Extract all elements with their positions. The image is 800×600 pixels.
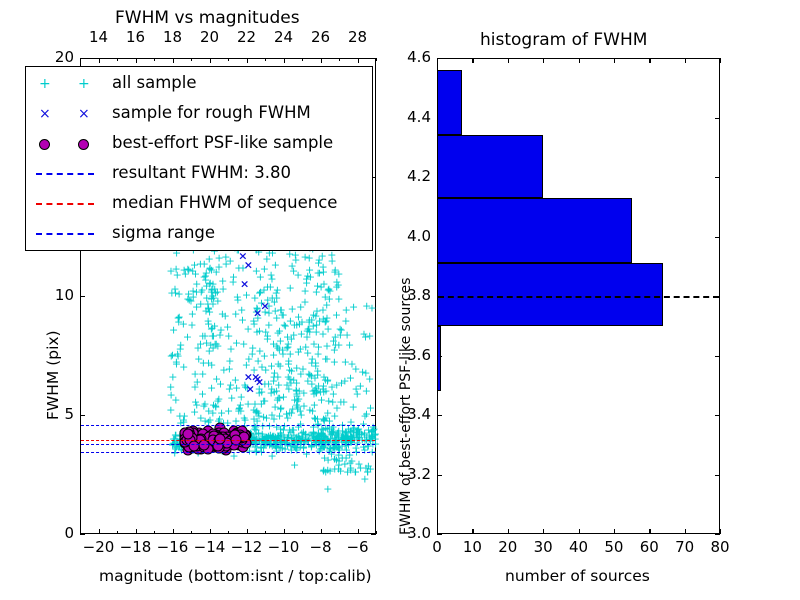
left-top-tickmark-3 xyxy=(210,58,211,63)
left-top-tickmark-6 xyxy=(321,58,322,63)
left-bottom-tickmark-7 xyxy=(358,529,359,534)
right-y-tick-8: 4.6 xyxy=(393,48,431,66)
right-y-tickmark-1 xyxy=(437,475,442,476)
right-xlabel: number of sources xyxy=(505,567,650,585)
dash-dot-line-icon xyxy=(36,233,94,235)
left-top-tick-6: 26 xyxy=(304,28,338,46)
circle-icon xyxy=(78,139,89,150)
legend-row-0: ++all sample xyxy=(26,69,372,99)
legend-box: ++all sample××sample for rough FWHMbest-… xyxy=(25,66,373,251)
right-y-tick-7: 4.4 xyxy=(393,108,431,126)
right-y-right-tickmark-7 xyxy=(715,118,720,119)
left-top-tick-3: 20 xyxy=(193,28,227,46)
left-bottom-minor-tick xyxy=(265,531,266,534)
right-panel-title: histogram of FWHM xyxy=(480,30,647,50)
left-top-tick-4: 22 xyxy=(230,28,264,46)
left-top-tick-7: 28 xyxy=(341,28,375,46)
right-x-top-tickmark-2 xyxy=(508,58,509,63)
right-x-top-tickmark-4 xyxy=(579,58,580,63)
histogram-resultant-fwhm-line xyxy=(438,296,719,298)
right-x-tick-4: 40 xyxy=(563,538,595,556)
right-y-tickmark-8 xyxy=(437,58,442,59)
right-x-top-tickmark-7 xyxy=(685,58,686,63)
left-top-tick-0: 14 xyxy=(82,28,116,46)
left-bottom-tickmark-6 xyxy=(321,529,322,534)
sigma-range-upper-line xyxy=(81,425,375,426)
dashed-line-icon xyxy=(36,203,94,205)
left-top-minor-tick xyxy=(339,58,340,61)
right-y-right-tickmark-0 xyxy=(715,534,720,535)
legend-row-3: resultant FWHM: 3.80 xyxy=(26,159,372,189)
left-top-minor-tick xyxy=(154,58,155,61)
left-top-tick-1: 16 xyxy=(119,28,153,46)
left-top-minor-tick xyxy=(376,58,377,61)
left-bottom-tick-5: −10 xyxy=(267,538,301,556)
histogram-bar-3 xyxy=(437,135,543,197)
plus-icon: + xyxy=(78,76,90,92)
right-x-top-tickmark-3 xyxy=(543,58,544,63)
histogram-bar-1 xyxy=(437,263,663,325)
right-x-tickmark-4 xyxy=(579,529,580,534)
left-panel-title: FWHM vs magnitudes xyxy=(115,8,300,28)
left-bottom-tickmark-3 xyxy=(210,529,211,534)
right-x-top-tickmark-8 xyxy=(720,58,721,63)
right-y-right-tickmark-1 xyxy=(715,475,720,476)
left-y-tickmark-4 xyxy=(80,58,85,59)
right-x-top-tickmark-6 xyxy=(649,58,650,63)
left-top-minor-tick xyxy=(117,58,118,61)
right-y-tickmark-0 xyxy=(437,534,442,535)
resultant-fwhm-line xyxy=(81,444,375,445)
left-top-minor-tick xyxy=(191,58,192,61)
histogram-bar-4 xyxy=(437,70,462,135)
left-top-tickmark-7 xyxy=(358,58,359,63)
legend-label-2: best-effort PSF-like sample xyxy=(112,133,333,152)
median-fwhm-line xyxy=(81,440,375,441)
psf-sample-point xyxy=(182,429,193,440)
left-y-right-tickmark-2 xyxy=(371,296,376,297)
left-top-tickmark-5 xyxy=(284,58,285,63)
left-y-tickmark-0 xyxy=(80,534,85,535)
left-top-minor-tick xyxy=(228,58,229,61)
legend-symbol-3 xyxy=(26,159,104,189)
legend-label-4: median FHWM of sequence xyxy=(112,193,337,212)
left-bottom-tickmark-5 xyxy=(284,529,285,534)
right-y-right-tickmark-2 xyxy=(715,415,720,416)
right-x-tickmark-2 xyxy=(508,529,509,534)
sigma-range-lower-line xyxy=(81,452,375,453)
left-bottom-minor-tick xyxy=(339,531,340,534)
legend-label-0: all sample xyxy=(112,73,197,92)
left-bottom-tick-4: −12 xyxy=(230,538,264,556)
right-x-tick-2: 20 xyxy=(492,538,524,556)
left-y-tick-2: 10 xyxy=(46,286,74,304)
legend-symbol-1: ×× xyxy=(26,99,104,129)
right-x-tick-6: 60 xyxy=(633,538,665,556)
right-y-right-tickmark-3 xyxy=(715,356,720,357)
right-x-tick-1: 10 xyxy=(456,538,488,556)
left-y-right-tickmark-0 xyxy=(371,534,376,535)
right-y-tickmark-2 xyxy=(437,415,442,416)
right-x-top-tickmark-1 xyxy=(472,58,473,63)
left-top-tick-2: 18 xyxy=(156,28,190,46)
legend-symbol-2 xyxy=(26,129,104,159)
legend-symbol-0: ++ xyxy=(26,69,104,99)
right-ylabel: FWHM of best-effort PSF-like sources xyxy=(398,278,414,535)
right-y-right-tickmark-5 xyxy=(715,237,720,238)
left-bottom-tick-6: −8 xyxy=(304,538,338,556)
left-bottom-minor-tick xyxy=(302,531,303,534)
left-y-tick-4: 20 xyxy=(46,48,74,66)
right-x-tick-7: 70 xyxy=(669,538,701,556)
right-x-tickmark-5 xyxy=(614,529,615,534)
right-y-tick-5: 4.0 xyxy=(393,227,431,245)
psf-sample-point xyxy=(188,440,199,451)
histogram-bar-2 xyxy=(437,198,632,263)
right-x-tickmark-3 xyxy=(543,529,544,534)
left-bottom-tickmark-4 xyxy=(247,529,248,534)
left-y-right-tickmark-4 xyxy=(371,58,376,59)
left-top-minor-tick xyxy=(302,58,303,61)
left-ylabel: FWHM (pix) xyxy=(44,330,62,420)
right-y-right-tickmark-6 xyxy=(715,177,720,178)
right-x-tick-8: 80 xyxy=(704,538,736,556)
left-top-minor-tick xyxy=(265,58,266,61)
left-y-tickmark-2 xyxy=(80,296,85,297)
left-bottom-tickmark-0 xyxy=(99,529,100,534)
left-bottom-tickmark-2 xyxy=(173,529,174,534)
left-bottom-minor-tick xyxy=(228,531,229,534)
right-x-tickmark-7 xyxy=(685,529,686,534)
legend-label-1: sample for rough FWHM xyxy=(112,103,311,122)
right-x-tickmark-8 xyxy=(720,529,721,534)
cross-icon: × xyxy=(39,106,51,122)
cross-icon: × xyxy=(78,106,90,122)
legend-row-1: ××sample for rough FWHM xyxy=(26,99,372,129)
right-y-tick-6: 4.2 xyxy=(393,167,431,185)
left-y-tick-0: 0 xyxy=(46,524,74,542)
right-y-right-tickmark-8 xyxy=(715,58,720,59)
left-bottom-minor-tick xyxy=(376,531,377,534)
histogram-bar-0 xyxy=(437,326,441,391)
left-bottom-tick-2: −16 xyxy=(156,538,190,556)
legend-label-5: sigma range xyxy=(112,223,215,242)
legend-symbol-5 xyxy=(26,219,104,249)
left-bottom-minor-tick xyxy=(154,531,155,534)
left-bottom-minor-tick xyxy=(191,531,192,534)
left-top-tickmark-2 xyxy=(173,58,174,63)
left-bottom-tickmark-1 xyxy=(136,529,137,534)
plus-icon: + xyxy=(39,76,51,92)
left-xlabel: magnitude (bottom:isnt / top:calib) xyxy=(99,567,372,585)
figure-canvas: FWHM vs magnitudes 1416182022242628 −20−… xyxy=(0,0,800,600)
left-top-tickmark-0 xyxy=(99,58,100,63)
right-x-tickmark-1 xyxy=(472,529,473,534)
left-y-right-tickmark-1 xyxy=(371,415,376,416)
circle-icon xyxy=(39,139,50,150)
dashed-line-icon xyxy=(36,173,94,175)
right-x-top-tickmark-5 xyxy=(614,58,615,63)
left-bottom-tick-3: −14 xyxy=(193,538,227,556)
left-top-tick-5: 24 xyxy=(267,28,301,46)
legend-symbol-4 xyxy=(26,189,104,219)
left-bottom-tick-7: −6 xyxy=(341,538,375,556)
left-y-tickmark-1 xyxy=(80,415,85,416)
left-bottom-minor-tick xyxy=(117,531,118,534)
left-bottom-tick-0: −20 xyxy=(82,538,116,556)
left-bottom-tick-1: −18 xyxy=(119,538,153,556)
legend-row-5: sigma range xyxy=(26,219,372,249)
left-top-tickmark-1 xyxy=(136,58,137,63)
right-x-tick-3: 30 xyxy=(527,538,559,556)
right-x-tick-5: 50 xyxy=(598,538,630,556)
legend-row-2: best-effort PSF-like sample xyxy=(26,129,372,159)
legend-row-4: median FHWM of sequence xyxy=(26,189,372,219)
right-x-tickmark-6 xyxy=(649,529,650,534)
legend-label-3: resultant FWHM: 3.80 xyxy=(112,163,291,182)
left-top-tickmark-4 xyxy=(247,58,248,63)
